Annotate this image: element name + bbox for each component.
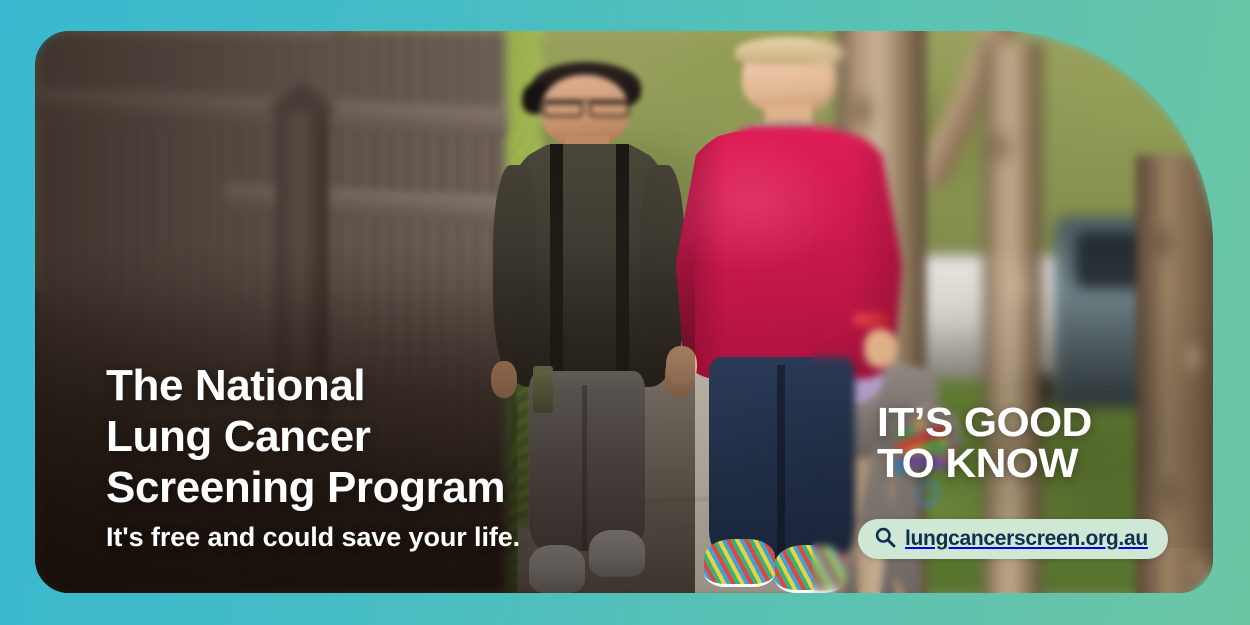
page-title: The National Lung Cancer Screening Progr… (106, 360, 505, 513)
subtitle: It's free and could save your life. (106, 522, 520, 553)
website-url-button[interactable]: lungcancerscreen.org.au (858, 519, 1168, 559)
headline-line-2: Lung Cancer (106, 411, 505, 462)
campaign-banner: The National Lung Cancer Screening Progr… (0, 0, 1250, 625)
website-url-text: lungcancerscreen.org.au (905, 527, 1148, 551)
kicker-line-2: TO KNOW (877, 443, 1092, 484)
search-icon (874, 526, 896, 553)
campaign-kicker: IT’S GOOD TO KNOW (877, 402, 1092, 484)
headline-line-3: Screening Program (106, 462, 505, 513)
kicker-line-1: IT’S GOOD (877, 402, 1092, 443)
headline-line-1: The National (106, 360, 505, 411)
